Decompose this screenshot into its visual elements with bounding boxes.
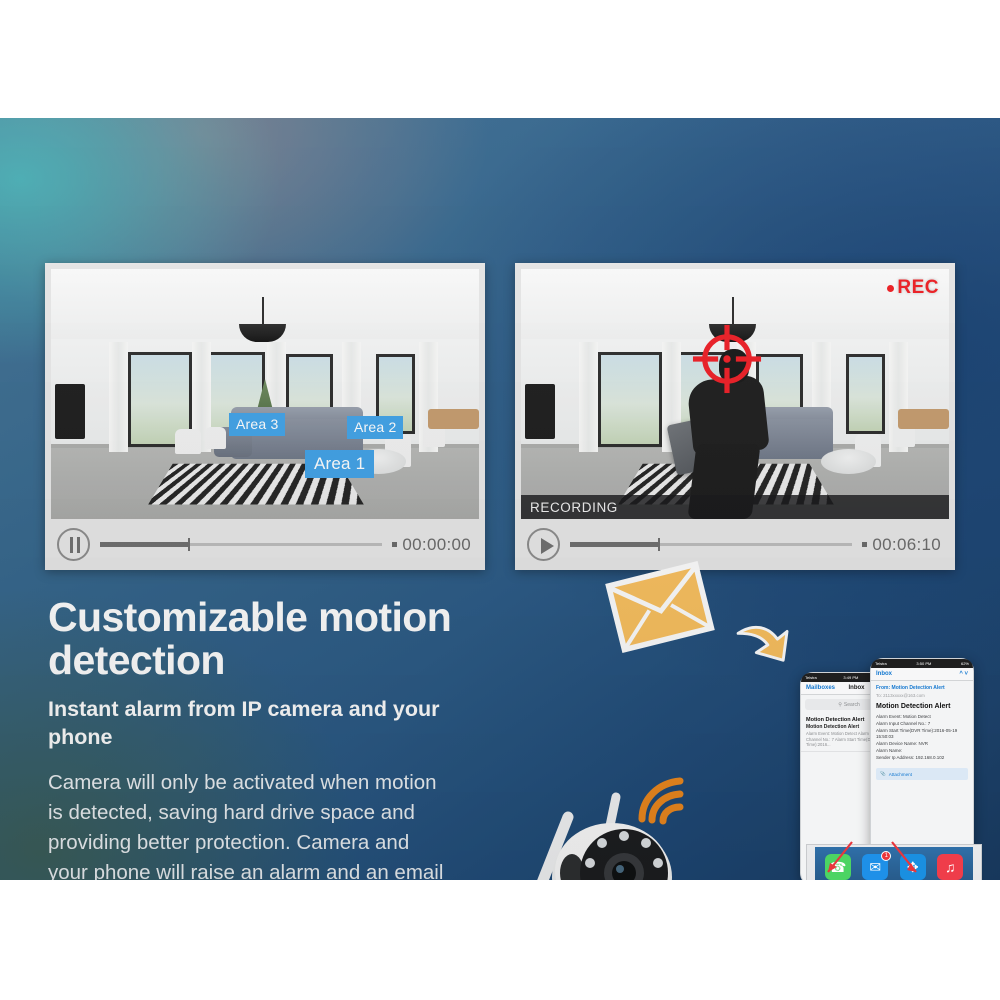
ip-camera [520, 773, 720, 880]
timecode-right: 00:06:10 [862, 535, 941, 555]
back-to-mailboxes[interactable]: Mailboxes [806, 685, 835, 691]
mail-line: Alarm Name: [876, 748, 968, 755]
area-tag-2[interactable]: Area 2 [347, 416, 403, 439]
mail-navbar[interactable]: Inbox ^ ˅ [871, 668, 973, 681]
music-icon[interactable]: ♫ [937, 854, 963, 880]
banner-panel: 00:00:00 Area 3 Area 2 Area 1 [0, 118, 1000, 880]
page-title: Customizable motion detection [48, 596, 518, 683]
pause-icon[interactable] [57, 528, 90, 561]
progress-slider-left[interactable] [100, 543, 382, 546]
curved-arrow-icon [735, 618, 793, 666]
mail-subject-heading: Motion Detection Alert [876, 703, 968, 710]
mail-from: From: Motion Detection Alert [876, 685, 968, 691]
rec-badge: REC [887, 277, 939, 299]
recording-status-bar: RECORDING [521, 495, 949, 519]
red-pointer-arrow-left [818, 840, 858, 880]
progress-slider-right[interactable] [570, 543, 852, 546]
play-icon[interactable] [527, 528, 560, 561]
phone-status-bar-2: Telstra 3:50 PM 62% [871, 659, 973, 668]
page-subtitle: Instant alarm from IP camera and your ph… [48, 696, 468, 752]
mail-line: Alarm Device Name: NVR [876, 741, 968, 748]
player-controls-right[interactable]: 00:06:10 [515, 519, 955, 570]
mail-line: Alarm Input Channel No.: 7 [876, 721, 968, 728]
body-copy: Camera will only be activated when motio… [48, 768, 448, 880]
dock-app-mail[interactable]: ✉ 1 Mail [862, 854, 888, 880]
living-room-scene-recording [521, 269, 949, 519]
back-to-inbox[interactable]: Inbox [876, 671, 892, 677]
red-pointer-arrow-right [886, 840, 926, 880]
recording-player[interactable]: REC RECORDING 00:06:10 [515, 263, 955, 570]
living-room-scene [51, 269, 479, 519]
live-view-screen [51, 269, 479, 519]
product-banner: 00:00:00 Area 3 Area 2 Area 1 [0, 0, 1000, 1000]
rec-dot-icon [887, 285, 894, 292]
attachment-chip[interactable]: 📎 Attachment [876, 768, 968, 780]
dock-app-music[interactable]: ♫ Music [937, 854, 963, 880]
mail-line: Sender Ip Address: 192.168.0.102 [876, 755, 968, 762]
mail-to: To: 2113xxxxx@163.com [876, 693, 968, 698]
area-tag-1[interactable]: Area 1 [305, 450, 374, 478]
area-tag-3[interactable]: Area 3 [229, 413, 285, 436]
recording-screen: REC RECORDING [521, 269, 949, 519]
paperclip-icon: 📎 [880, 771, 886, 777]
crosshair-target-icon [690, 322, 764, 396]
mail-icon[interactable]: ✉ 1 [862, 854, 888, 880]
email-envelope-icon [604, 559, 715, 654]
timecode-left: 00:00:00 [392, 535, 471, 555]
search-icon: ⚲ [838, 702, 842, 708]
player-controls-left[interactable]: 00:00:00 [45, 519, 485, 570]
inbox-title: Inbox [849, 685, 865, 691]
mail-line: Alarm Start Time(DVR Time):2016-05-19 15… [876, 728, 968, 742]
mail-line: Alarm Event: Motion Detect [876, 714, 968, 721]
chevron-up-down-icons[interactable]: ^ ˅ [959, 671, 968, 677]
